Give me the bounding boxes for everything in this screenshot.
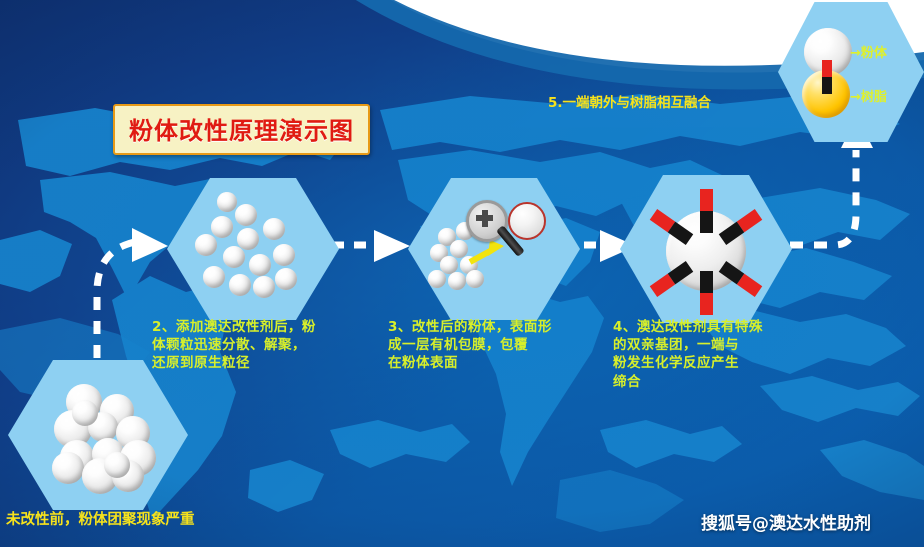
hexagon-step2 bbox=[167, 178, 339, 320]
infographic-canvas: 粉体改性原理演示图 未改性前，粉体团聚现象严重 bbox=[0, 0, 924, 547]
agglomerated-particles-icon bbox=[8, 360, 188, 510]
legend-arrow-icon: → bbox=[850, 90, 861, 105]
step3-text: 改性后的粉体，表面形 成一层有机包膜，包覆 在粉体表面 bbox=[388, 319, 552, 371]
step5-caption: 5.一端朝外与树脂相互融合 bbox=[548, 91, 711, 111]
step3-label: 3、改性后的粉体，表面形 成一层有机包膜，包覆 在粉体表面 bbox=[388, 318, 563, 373]
legend-arrow-icon: → bbox=[850, 46, 861, 61]
powder-resin-fusion-icon: →粉体 →树脂 bbox=[778, 2, 924, 142]
step2-label: 2、添加澳达改性剂后，粉 体颗粒迅速分散、解聚， 还原到原生粒径 bbox=[152, 318, 322, 373]
legend-powder: →粉体 bbox=[850, 42, 887, 61]
watermark: 搜狐号@澳达水性助剂 bbox=[701, 509, 871, 534]
hexagon-step3 bbox=[408, 178, 580, 320]
step3-number: 3、 bbox=[388, 319, 412, 335]
hexagon-step4 bbox=[620, 175, 792, 323]
hexagon-step1 bbox=[8, 360, 188, 510]
magnifier-coated-particle-icon bbox=[408, 178, 580, 320]
legend-powder-label: 粉体 bbox=[861, 46, 887, 61]
legend-resin-label: 树脂 bbox=[861, 90, 887, 105]
legend-resin: →树脂 bbox=[850, 86, 887, 105]
page-title-text: 粉体改性原理演示图 bbox=[129, 117, 354, 145]
step2-text: 添加澳达改性剂后，粉 体颗粒迅速分散、解聚， 还原到原生粒径 bbox=[152, 319, 316, 371]
hexagon-step5: →粉体 →树脂 bbox=[778, 2, 924, 142]
bipolar-rod bbox=[700, 189, 713, 233]
step4-label: 4、澳达改性剂具有特殊 的双亲基团，一端与 粉发生化学反应产生 缔合 bbox=[613, 318, 791, 391]
step4-number: 4、 bbox=[613, 319, 637, 335]
step1-caption: 未改性前，粉体团聚现象严重 bbox=[6, 508, 195, 529]
bipolar-rod bbox=[700, 271, 713, 315]
step2-number: 2、 bbox=[152, 319, 176, 335]
dispersed-particles-icon bbox=[167, 178, 339, 320]
bipolar-rod bbox=[822, 60, 832, 94]
enlarged-particle-view bbox=[508, 202, 546, 240]
page-title: 粉体改性原理演示图 bbox=[113, 104, 370, 155]
particle-with-bipolar-groups-icon bbox=[620, 175, 792, 323]
